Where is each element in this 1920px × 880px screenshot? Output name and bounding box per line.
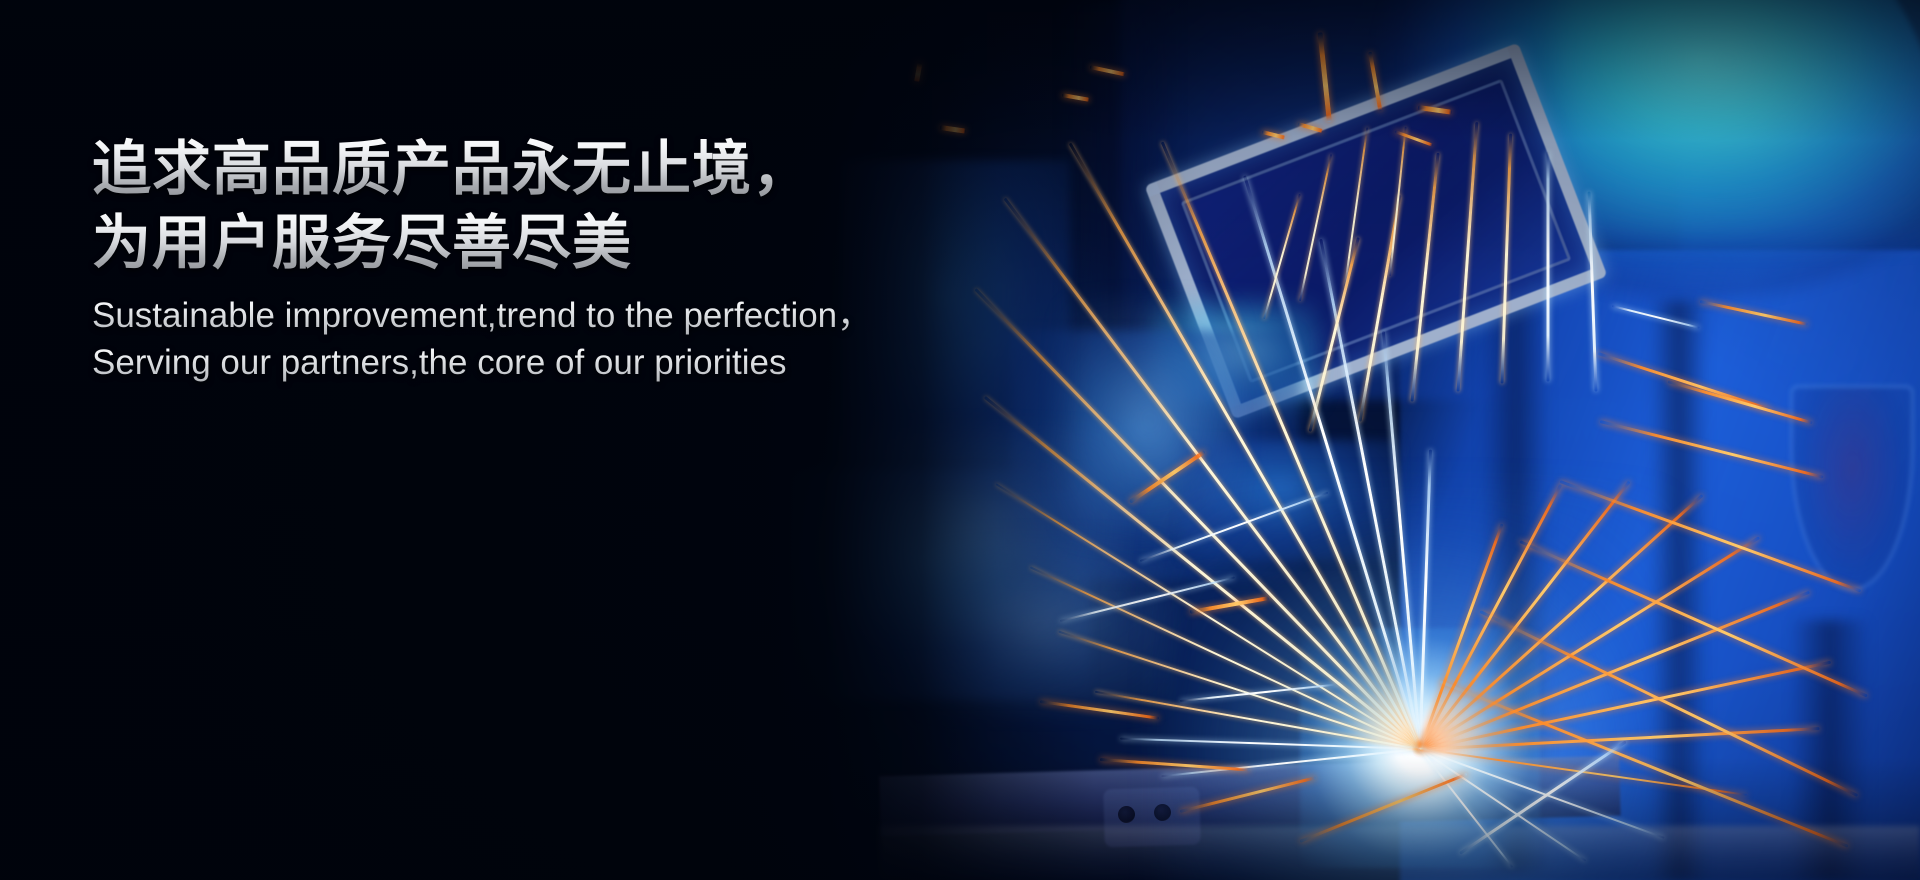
subhead-line-2: Serving our partners,the core of our pri… — [92, 339, 1112, 386]
headline-line-2: 为用户服务尽善尽美 — [92, 206, 1112, 280]
subhead-line-1: Sustainable improvement,trend to the per… — [92, 292, 1112, 339]
banner-copy: 追求高品质产品永无止境， 为用户服务尽善尽美 Sustainable impro… — [92, 132, 1112, 386]
hero-banner: 追求高品质产品永无止境， 为用户服务尽善尽美 Sustainable impro… — [0, 0, 1920, 880]
headline-line-1: 追求高品质产品永无止境， — [92, 132, 1112, 206]
